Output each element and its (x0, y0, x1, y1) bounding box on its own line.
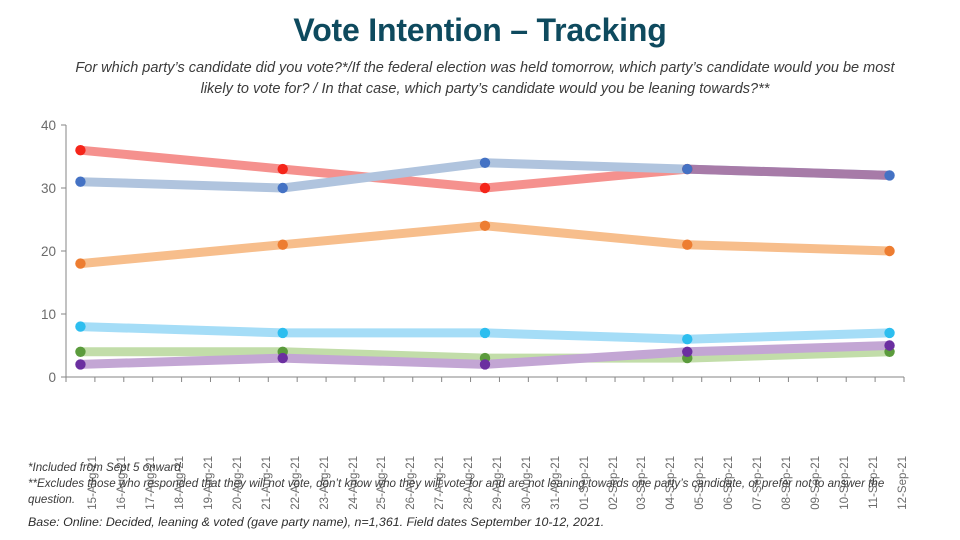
y-axis-tick-label: 0 (48, 370, 56, 385)
page-title: Vote Intention – Tracking (0, 12, 960, 49)
line-series-orange (80, 226, 889, 264)
footnote-double-asterisk: **Excludes those who responded that they… (28, 476, 928, 508)
marker-series-orange (682, 240, 692, 250)
marker-series-orange (75, 258, 85, 268)
y-axis-tick-label: 10 (41, 307, 56, 322)
footnote-asterisk: *Included from Sept 5 onward (28, 460, 928, 476)
marker-series-cyan (278, 328, 288, 338)
line-chart-svg: 010203040 (0, 112, 960, 402)
marker-series-cyan (480, 328, 490, 338)
marker-series-cyan (682, 334, 692, 344)
marker-series-blue (278, 183, 288, 193)
y-axis-tick-label: 20 (41, 244, 56, 259)
marker-series-cyan (75, 321, 85, 331)
marker-series-purple (480, 359, 490, 369)
marker-series-red (480, 183, 490, 193)
marker-series-blue (682, 164, 692, 174)
marker-series-cyan (884, 328, 894, 338)
marker-series-green (75, 347, 85, 357)
marker-series-blue (75, 177, 85, 187)
marker-series-blue (884, 170, 894, 180)
marker-series-purple (75, 359, 85, 369)
line-series-purple-top (687, 169, 889, 175)
chart-page: Vote Intention – Tracking For which part… (0, 0, 960, 540)
marker-series-purple (884, 340, 894, 350)
marker-series-purple (682, 347, 692, 357)
chart-subtitle: For which party’s candidate did you vote… (60, 58, 910, 100)
y-axis-tick-label: 30 (41, 181, 56, 196)
x-axis-labels: 15-Aug-2116-Aug-2117-Aug-2118-Aug-2119-A… (0, 386, 960, 456)
base-note: Base: Online: Decided, leaning & voted (… (28, 515, 928, 529)
marker-series-red (278, 164, 288, 174)
y-axis-tick-label: 40 (41, 118, 56, 133)
marker-series-orange (480, 221, 490, 231)
marker-series-red (75, 145, 85, 155)
marker-series-orange (884, 246, 894, 256)
marker-series-orange (278, 240, 288, 250)
plot-area: 010203040 (0, 112, 960, 402)
footnotes: *Included from Sept 5 onward **Excludes … (28, 460, 928, 508)
marker-series-purple (278, 353, 288, 363)
marker-series-blue (480, 158, 490, 168)
